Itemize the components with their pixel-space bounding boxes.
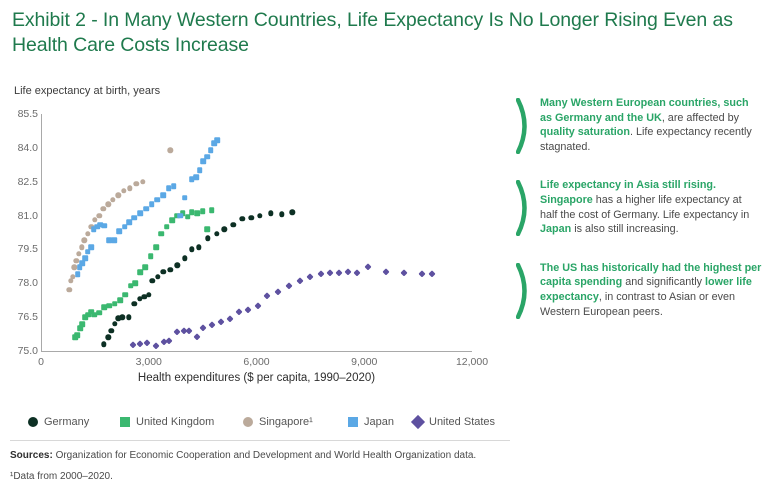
data-point-singapore [116, 193, 121, 198]
annotation-text: Life expectancy in Asia still rising. Si… [540, 178, 762, 236]
data-point-unitedkingdom [148, 253, 154, 259]
data-point-unitedstates [296, 277, 303, 284]
data-point-unitedkingdom [204, 226, 210, 232]
data-point-japan [75, 271, 81, 277]
data-point-japan [197, 168, 203, 174]
legend-item-singapore[interactable]: Singapore¹ [243, 416, 313, 428]
chevron-right-icon [516, 98, 534, 154]
data-point-japan [178, 213, 184, 219]
data-point-unitedstates [143, 339, 150, 346]
data-point-unitedstates [226, 316, 233, 323]
data-point-unitedstates [129, 342, 136, 349]
data-point-germany [214, 231, 219, 236]
data-point-unitedstates [174, 328, 181, 335]
data-point-japan [88, 244, 94, 250]
legend-label: Germany [44, 416, 89, 428]
data-point-unitedstates [353, 269, 360, 276]
chevron-right-icon [516, 180, 534, 236]
data-point-germany [112, 321, 117, 326]
data-point-unitedkingdom [132, 280, 138, 286]
data-point-germany [189, 247, 194, 252]
data-point-japan [149, 201, 155, 207]
x-tick-label: 9,000 [351, 356, 377, 368]
data-point-japan [132, 215, 138, 221]
data-point-singapore [101, 206, 106, 211]
data-point-japan [111, 238, 117, 244]
data-point-germany [205, 235, 210, 240]
data-point-unitedkingdom [153, 244, 159, 250]
data-point-singapore [127, 186, 132, 191]
data-point-singapore [82, 238, 87, 243]
data-point-germany [146, 292, 151, 297]
data-point-germany [155, 274, 160, 279]
x-axis-line [41, 351, 472, 352]
data-point-germany [132, 301, 137, 306]
data-point-germany [160, 269, 165, 274]
footnote: ¹Data from 2000–2020. [10, 471, 530, 482]
legend-label: Japan [364, 416, 394, 428]
data-point-japan [171, 183, 177, 189]
circle-marker-icon [243, 417, 253, 427]
data-point-unitedstates [217, 318, 224, 325]
data-point-unitedstates [193, 334, 200, 341]
data-point-japan [204, 154, 210, 160]
data-point-unitedkingdom [123, 292, 129, 298]
square-marker-icon [120, 417, 130, 427]
data-point-unitedstates [136, 341, 143, 348]
chart-legend: GermanyUnited KingdomSingapore¹JapanUnit… [28, 416, 508, 436]
data-point-unitedstates [382, 268, 389, 275]
y-axis-ticks: 75.076.578.079.581.082.584.085.5 [0, 114, 38, 351]
y-tick-label: 84.0 [4, 142, 38, 154]
data-point-japan [182, 195, 188, 201]
data-point-japan [193, 174, 199, 180]
x-tick-label: 12,000 [456, 356, 488, 368]
data-point-singapore [105, 202, 110, 207]
data-point-singapore [110, 197, 115, 202]
data-point-unitedstates [244, 307, 251, 314]
data-point-unitedstates [199, 325, 206, 332]
data-point-germany [182, 256, 187, 261]
x-axis-ticks: 03,0006,0009,00012,000 [41, 356, 472, 372]
data-point-unitedstates [285, 282, 292, 289]
data-point-unitedstates [165, 337, 172, 344]
data-point-unitedstates [152, 343, 159, 350]
data-point-unitedstates [344, 268, 351, 275]
data-point-germany [150, 278, 155, 283]
y-tick-label: 82.5 [4, 176, 38, 188]
data-point-germany [126, 314, 131, 319]
plot-area [41, 114, 472, 351]
data-point-unitedkingdom [96, 310, 102, 316]
legend-label: United States [429, 416, 495, 428]
data-point-germany [248, 215, 253, 220]
data-point-germany [221, 226, 226, 231]
data-point-singapore [73, 258, 78, 263]
data-point-japan [155, 197, 161, 203]
data-point-unitedstates [364, 264, 371, 271]
legend-label: Singapore¹ [259, 416, 313, 428]
annotation-western-europe: Many Western European countries, such as… [512, 96, 762, 154]
data-point-unitedkingdom [164, 224, 170, 230]
data-point-unitedkingdom [200, 208, 206, 214]
y-tick-label: 81.0 [4, 210, 38, 222]
data-point-germany [290, 209, 295, 214]
data-point-unitedstates [274, 289, 281, 296]
data-point-germany [168, 267, 173, 272]
data-point-unitedkingdom [117, 297, 123, 303]
data-point-germany [268, 211, 273, 216]
data-point-singapore [76, 251, 81, 256]
data-point-unitedstates [429, 271, 436, 278]
data-point-unitedstates [235, 308, 242, 315]
data-point-unitedkingdom [159, 231, 165, 237]
data-point-unitedstates [418, 271, 425, 278]
data-point-singapore [79, 244, 84, 249]
data-point-germany [279, 212, 284, 217]
data-point-singapore [85, 231, 90, 236]
data-point-singapore [140, 179, 145, 184]
annotation-asia: Life expectancy in Asia still rising. Si… [512, 178, 762, 236]
legend-label: United Kingdom [136, 416, 214, 428]
data-point-germany [109, 328, 114, 333]
sources-text: Organization for Economic Cooperation an… [53, 450, 476, 461]
data-point-germany [119, 314, 124, 319]
data-point-unitedstates [255, 302, 262, 309]
data-point-unitedstates [208, 321, 215, 328]
data-point-unitedstates [400, 269, 407, 276]
data-point-japan [101, 223, 107, 229]
data-point-singapore [96, 213, 101, 218]
data-point-germany [239, 216, 244, 221]
y-axis-title: Life expectancy at birth, years [14, 85, 160, 97]
x-tick-label: 3,000 [136, 356, 162, 368]
page-title: Exhibit 2 - In Many Western Countries, L… [12, 8, 752, 58]
data-point-unitedkingdom [80, 321, 86, 327]
legend-item-japan[interactable]: Japan [348, 416, 394, 428]
footer-divider [10, 440, 510, 441]
data-point-japan [137, 211, 143, 217]
data-point-unitedkingdom [142, 265, 148, 271]
square-marker-icon [348, 417, 358, 427]
data-point-unitedstates [326, 269, 333, 276]
legend-item-germany[interactable]: Germany [28, 416, 89, 428]
sources-label: Sources: [10, 450, 53, 461]
data-point-unitedstates [264, 292, 271, 299]
data-point-germany [196, 244, 201, 249]
data-point-singapore [67, 287, 72, 292]
data-point-singapore [68, 278, 73, 283]
data-point-japan [214, 137, 220, 143]
chevron-right-icon [516, 263, 534, 319]
diamond-marker-icon [411, 415, 425, 429]
data-point-germany [175, 263, 180, 268]
data-point-japan [82, 256, 88, 262]
y-tick-label: 76.5 [4, 311, 38, 323]
data-point-unitedstates [317, 271, 324, 278]
x-tick-label: 6,000 [243, 356, 269, 368]
annotation-list: Many Western European countries, such as… [512, 96, 762, 343]
annotation-text: Many Western European countries, such as… [540, 96, 762, 154]
data-point-germany [101, 342, 106, 347]
x-axis-title: Health expenditures ($ per capita, 1990–… [41, 372, 472, 384]
data-point-singapore [168, 147, 173, 152]
y-tick-label: 85.5 [4, 108, 38, 120]
data-point-germany [230, 222, 235, 227]
y-tick-label: 75.0 [4, 345, 38, 357]
annotation-us: The US has historically had the highest … [512, 261, 762, 319]
data-point-japan [160, 192, 166, 198]
y-tick-label: 79.5 [4, 243, 38, 255]
legend-item-unitedkingdom[interactable]: United Kingdom [120, 416, 214, 428]
data-point-germany [105, 335, 110, 340]
sources-note: Sources: Organization for Economic Coope… [10, 448, 530, 463]
data-point-germany [257, 213, 262, 218]
data-point-unitedkingdom [209, 207, 215, 213]
data-point-unitedkingdom [74, 332, 80, 338]
data-point-unitedstates [307, 273, 314, 280]
scatter-chart: 75.076.578.079.581.082.584.085.5 03,0006… [0, 100, 500, 360]
x-tick-label: 0 [38, 356, 44, 368]
annotation-text: The US has historically had the highest … [540, 261, 762, 319]
data-point-singapore [133, 181, 138, 186]
data-point-japan [208, 147, 214, 153]
data-point-unitedstates [335, 269, 342, 276]
legend-item-unitedstates[interactable]: United States [413, 416, 495, 428]
data-point-unitedstates [186, 327, 193, 334]
y-tick-label: 78.0 [4, 277, 38, 289]
circle-marker-icon [28, 417, 38, 427]
data-point-singapore [121, 188, 126, 193]
